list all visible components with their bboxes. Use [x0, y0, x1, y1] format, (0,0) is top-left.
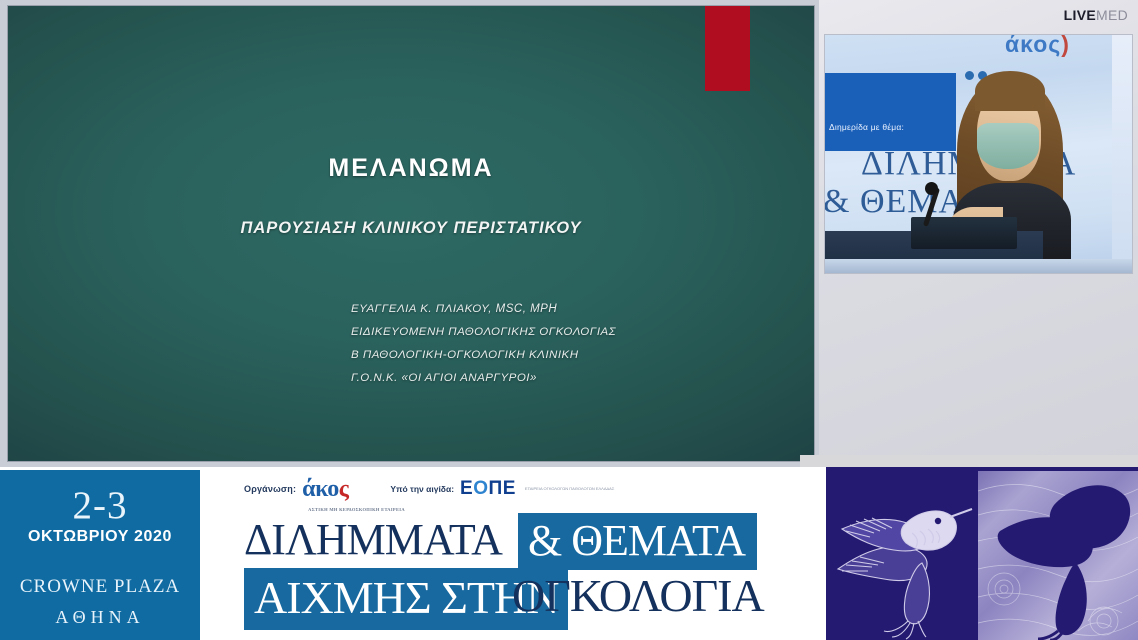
author-line-name: ΕΥΑΓΓΕΛΙΑ Κ. ΠΛΙΑΚΟΥ, MSC, MPH: [351, 298, 781, 321]
eope-pe: ΠΕ: [489, 478, 516, 499]
banner-title-line2-plain: ΟΓΚΟΛΟΓΙΑ: [512, 569, 764, 622]
author-line-specialty: ΕΙΔΙΚΕΥΟΜΕΝΗ ΠΑΘΟΛΟΓΙΚΗΣ ΟΓΚΟΛΟΓΙΑΣ: [351, 321, 781, 344]
presentation-slide[interactable]: ΜΕΛΑΝΩΜΑ ΠΑΡΟΥΣΙΑΣΗ ΚΛΙΝΙΚΟΥ ΠΕΡΙΣΤΑΤΙΚΟ…: [8, 6, 814, 461]
sidebar-panel: LIVEMED άκος) ΕΟΠΕ ΔΙΛΗΜΜΑΤΑ & ΘΕΜΑΤΑ ΟΓ…: [819, 0, 1138, 467]
organizer-label: Οργάνωση:: [244, 484, 296, 494]
hummingbird-icon: [826, 473, 974, 640]
slide-author-block: ΕΥΑΓΓΕΛΙΑ Κ. ΠΛΙΑΚΟΥ, MSC, MPH ΕΙΔΙΚΕΥΟΜ…: [351, 298, 781, 390]
artwork-left-tile: [826, 473, 974, 640]
event-artwork-panel: [826, 467, 1138, 640]
eope-logo: ΕΟΠΕ: [460, 478, 516, 500]
event-title-panel: Οργάνωση: άκος ΑΣΤΙΚΗ ΜΗ ΚΕΡΔΟΣΚΟΠΙΚΗ ΕΤ…: [200, 470, 826, 640]
eope-o: Ο: [473, 478, 488, 499]
banner-title-line1-plain: ΔΙΛΗΜΜΑΤΑ: [244, 514, 502, 565]
author-line-hospital: Γ.Ο.Ν.Κ. «ΟΙ ΑΓΙΟΙ ΑΝΑΡΓΥΡΟΙ»: [351, 367, 781, 390]
microphone-head: [925, 182, 938, 195]
video-right-wall: [1112, 35, 1132, 273]
event-date-panel: 2-3 ΟΚΤΩΒΡΙΟΥ 2020 CROWNE PLAZA ΑΘΗΝΑ: [0, 470, 200, 640]
broadcast-player: ΜΕΛΑΝΩΜΑ ΠΑΡΟΥΣΙΑΣΗ ΚΛΙΝΙΚΟΥ ΠΕΡΙΣΤΑΤΙΚΟ…: [0, 0, 1138, 640]
backdrop-akos-logo: άκος): [1005, 35, 1070, 58]
speaker-hair-top: [975, 71, 1045, 111]
slide-subtitle: ΠΑΡΟΥΣΙΑΣΗ ΚΛΙΝΙΚΟΥ ΠΕΡΙΣΤΑΤΙΚΟΥ: [8, 219, 814, 238]
livemed-logo-med: MED: [1096, 7, 1128, 23]
event-venue: CROWNE PLAZA: [0, 576, 200, 598]
backdrop-icon-1: [965, 71, 974, 80]
event-month-year: ΟΚΤΩΒΡΙΟΥ 2020: [0, 528, 200, 546]
backdrop-blue-panel: Διημερίδα με θέμα:: [825, 73, 956, 151]
livemed-logo: LIVEMED: [1064, 7, 1128, 23]
slide-title: ΜΕΛΑΝΩΜΑ: [8, 154, 814, 183]
akos-logo: άκος ΑΣΤΙΚΗ ΜΗ ΚΕΡΔΟΣΚΟΠΙΚΗ ΕΤΑΙΡΕΙΑ: [302, 478, 348, 500]
event-city: ΑΘΗΝΑ: [0, 607, 200, 628]
banner-title-line1-highlight: & ΘΕΜΑΤΑ: [518, 513, 757, 570]
eope-tagline: ΕΤΑΙΡΕΙΑ ΟΓΚΟΛΟΓΩΝ ΠΑΘΟΛΟΓΩΝ ΕΛΛΑΔΑΣ: [525, 486, 614, 492]
speaker-video-tile[interactable]: άκος) ΕΟΠΕ ΔΙΛΗΜΜΑΤΑ & ΘΕΜΑΤΑ ΟΓΚΟ Διημε…: [825, 35, 1132, 273]
aegis-label: Υπό την αιγίδα:: [390, 484, 454, 494]
artwork-right-tile: [978, 471, 1138, 640]
author-line-clinic: Β ΠΑΘΟΛΟΓΙΚΗ-ΟΓΚΟΛΟΓΙΚΗ ΚΛΙΝΙΚΗ: [351, 344, 781, 367]
hummingbird-silhouette-icon: [978, 471, 1138, 640]
podium-ledge: [825, 259, 1132, 273]
event-banner: 2-3 ΟΚΤΩΒΡΙΟΥ 2020 CROWNE PLAZA ΑΘΗΝΑ Ορ…: [0, 467, 1138, 640]
slide-viewer[interactable]: ΜΕΛΑΝΩΜΑ ΠΑΡΟΥΣΙΑΣΗ ΚΛΙΝΙΚΟΥ ΠΕΡΙΣΤΑΤΙΚΟ…: [0, 0, 819, 467]
organizer-row: Οργάνωση: άκος ΑΣΤΙΚΗ ΜΗ ΚΕΡΔΟΣΚΟΠΙΚΗ ΕΤ…: [244, 478, 614, 500]
panel-divider: [800, 455, 1138, 467]
event-dates: 2-3: [0, 483, 200, 528]
slide-accent-bar: [705, 6, 750, 91]
eope-e: Ε: [460, 478, 473, 499]
backdrop-panel-label: Διημερίδα με θέμα:: [829, 122, 904, 132]
livemed-logo-live: LIVE: [1064, 7, 1096, 23]
speaker-face-mask: [977, 123, 1039, 169]
